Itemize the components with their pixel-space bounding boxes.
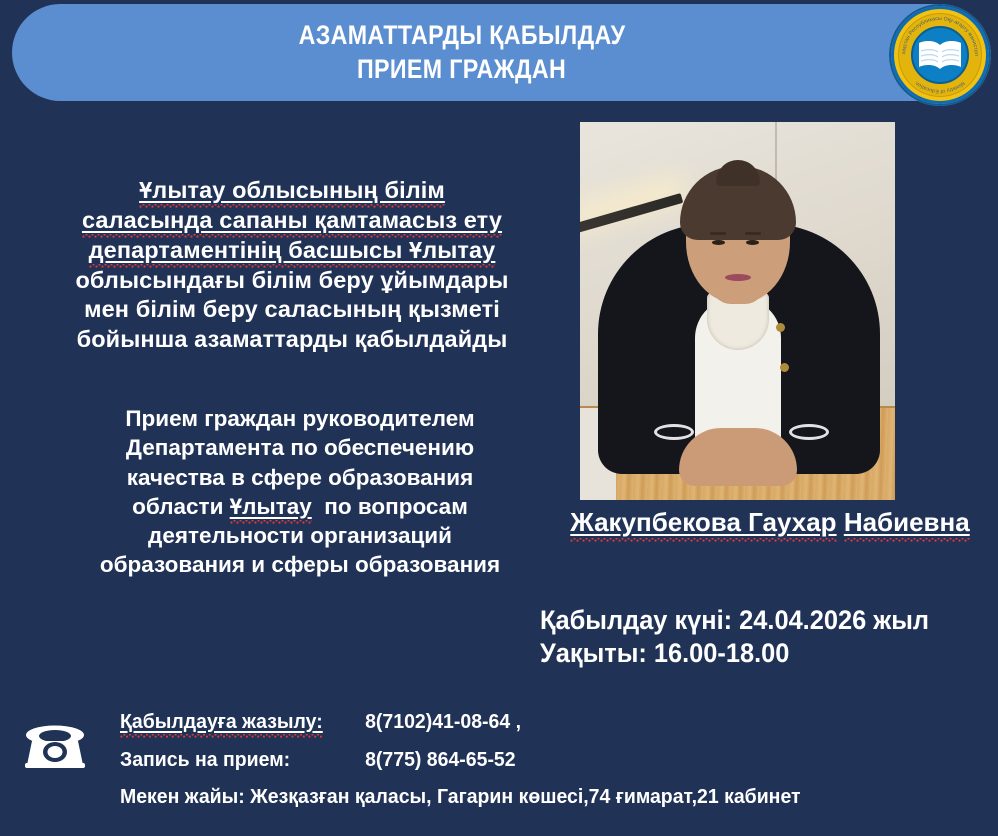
official-name-line-1: Жакупбекова Гаухар [570,507,836,542]
telephone-icon [22,724,88,770]
contact-row-appointment-ru: Запись на прием: 8(775) 864-65-52 [120,750,937,771]
announcement-kk-line-1: Ұлытау облысының білім [139,177,445,208]
header-banner: АЗАМАТТАРДЫ ҚАБЫЛДАУ ПРИЕМ ГРАЖДАН [12,4,980,101]
emblem-text-kk: Қазақстан Республикасы Оқу-ағарту минист… [889,4,979,56]
announcement-kazakh: Ұлытау облысының білім саласында сапаны … [18,176,566,355]
contact-rows: Қабылдауға жазылу: 8(7102)41-08-64 , Зап… [120,712,980,808]
photo-person-eyebrow-right [745,232,761,235]
announcement-ru-line-2: Департамента по обеспечению [40,433,560,462]
announcement-kk-line-6: бойынша азаматтарды қабылдайды [18,325,566,355]
poster-root: АЗАМАТТАРДЫ ҚАБЫЛДАУ ПРИЕМ ГРАЖДАН Қазақ… [0,0,998,836]
photo-cardigan-button-lower [780,363,789,372]
banner-title-group: АЗАМАТТАРДЫ ҚАБЫЛДАУ ПРИЕМ ГРАЖДАН [12,4,912,101]
announcement-kk-line-2: саласында сапаны қамтамасыз ету [82,207,502,238]
official-portrait-photo [580,122,895,500]
photo-person-bracelet-left [654,424,694,440]
announcement-ru-line-4: области Ұлытау по вопросам [40,492,560,521]
announcement-kk-line-3: департаментінің басшысы Ұлытау [89,237,496,268]
announcement-ru-spellchecked-word: Ұлытау [230,494,312,524]
photo-person-eyebrow-left [710,232,726,235]
announcement-ru-line-3: качества в сфере образования [40,463,560,492]
contact-row-appointment-kk: Қабылдауға жазылу: 8(7102)41-08-64 , [120,712,937,733]
svg-text:Ministry of Education: Ministry of Education [914,80,965,94]
photo-person-mouth [725,274,751,281]
contact-phone-1[interactable]: 8(7102)41-08-64 , [365,712,937,733]
reception-time-line: Уақыты: 16.00-18.00 [540,637,963,670]
contact-row-address: Мекен жайы: Жезқазған қаласы, Гагарин кө… [120,787,937,808]
svg-text:Қазақстан Республикасы Оқу-аға: Қазақстан Республикасы Оқу-ағарту минист… [889,4,979,56]
contact-phone-2[interactable]: 8(775) 864-65-52 [365,750,937,771]
announcement-kk-line-4: облысындағы білім беру ұйымдары [18,266,566,296]
emblem-circular-text: Қазақстан Республикасы Оқу-ағарту минист… [889,4,991,106]
announcement-russian: Прием граждан руководителем Департамента… [40,404,560,580]
ministry-emblem-icon: Қазақстан Республикасы Оқу-ағарту минист… [889,4,991,106]
photo-person-bracelet-right [789,424,829,440]
contact-label-appointment-ru: Запись на прием: [120,750,365,771]
contact-label-appointment-kk: Қабылдауға жазылу: [120,710,323,738]
announcement-ru-line-5: деятельности организаций [40,521,560,550]
emblem-text-en: Ministry of Education [914,80,965,94]
official-name: Жакупбекова Гаухар Набиевна [560,506,980,539]
announcement-ru-line-1: Прием граждан руководителем [40,404,560,433]
announcement-kk-line-5: мен білім беру саласының қызметі [18,295,566,325]
banner-title-ru: ПРИЕМ ГРАЖДАН [357,54,566,86]
photo-person-eye-left [712,240,725,245]
photo-person-hands [679,428,797,486]
photo-cardigan-button-upper [776,323,785,332]
banner-title-kk: АЗАМАТТАРДЫ ҚАБЫЛДАУ [299,20,626,52]
photo-person-eye-right [746,240,759,245]
reception-schedule: Қабылдау күні: 24.04.2026 жыл Уақыты: 16… [540,604,963,670]
contacts-section: Қабылдауға жазылу: 8(7102)41-08-64 , Зап… [18,712,980,824]
reception-date-line: Қабылдау күні: 24.04.2026 жыл [540,604,963,637]
contact-address-text: Мекен жайы: Жезқазған қаласы, Гагарин кө… [120,787,801,808]
official-name-line-2: Набиевна [844,507,970,542]
announcement-ru-line-6: образования и сферы образования [40,550,560,579]
